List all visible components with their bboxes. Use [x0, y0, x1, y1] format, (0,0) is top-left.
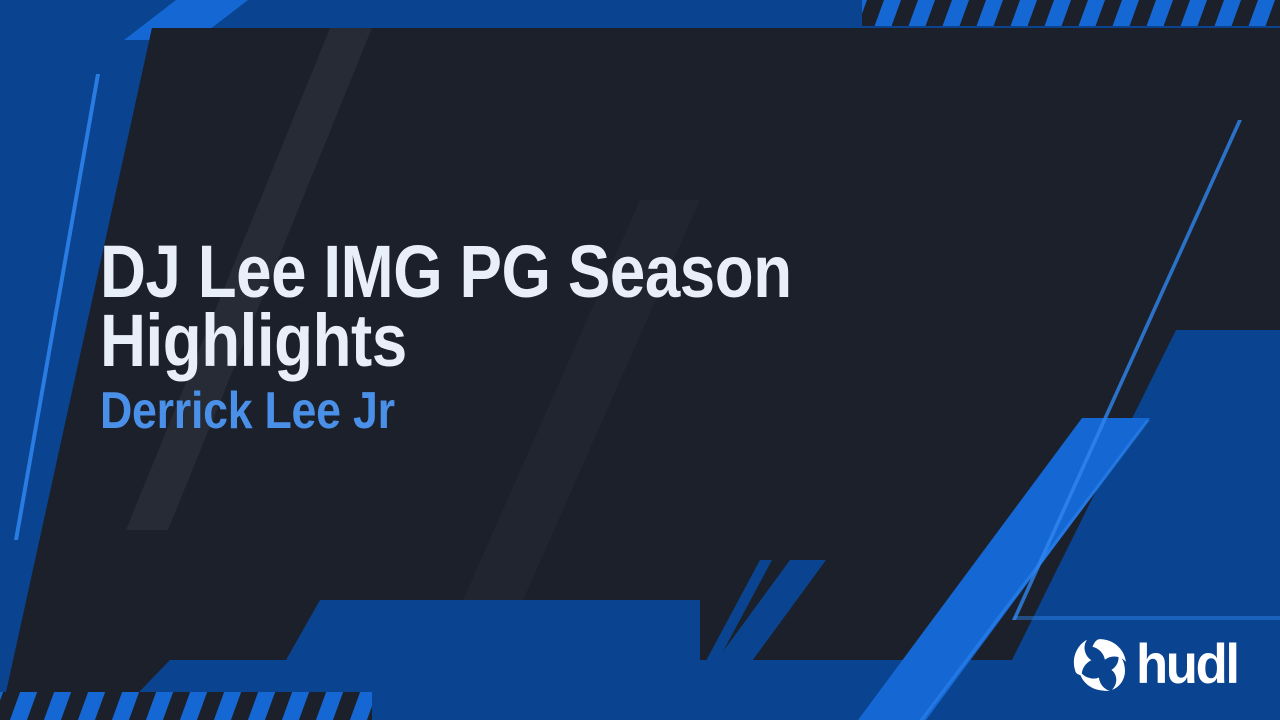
title-block: DJ Lee IMG PG Season Highlights Derrick …: [100, 238, 900, 437]
hudl-triskelion-logo-icon: [1073, 637, 1127, 691]
accent-line-right-lower: [1012, 616, 1280, 620]
athlete-name-subtitle: Derrick Lee Jr: [100, 385, 788, 437]
hudl-wordmark: hudl: [1136, 636, 1238, 692]
page-title-line-1: DJ Lee IMG PG Season: [100, 238, 788, 307]
hudl-logo: hudl: [1073, 636, 1244, 692]
hudl-highlight-title-card: DJ Lee IMG PG Season Highlights Derrick …: [0, 0, 1280, 720]
page-title-line-2: Highlights: [100, 307, 788, 376]
